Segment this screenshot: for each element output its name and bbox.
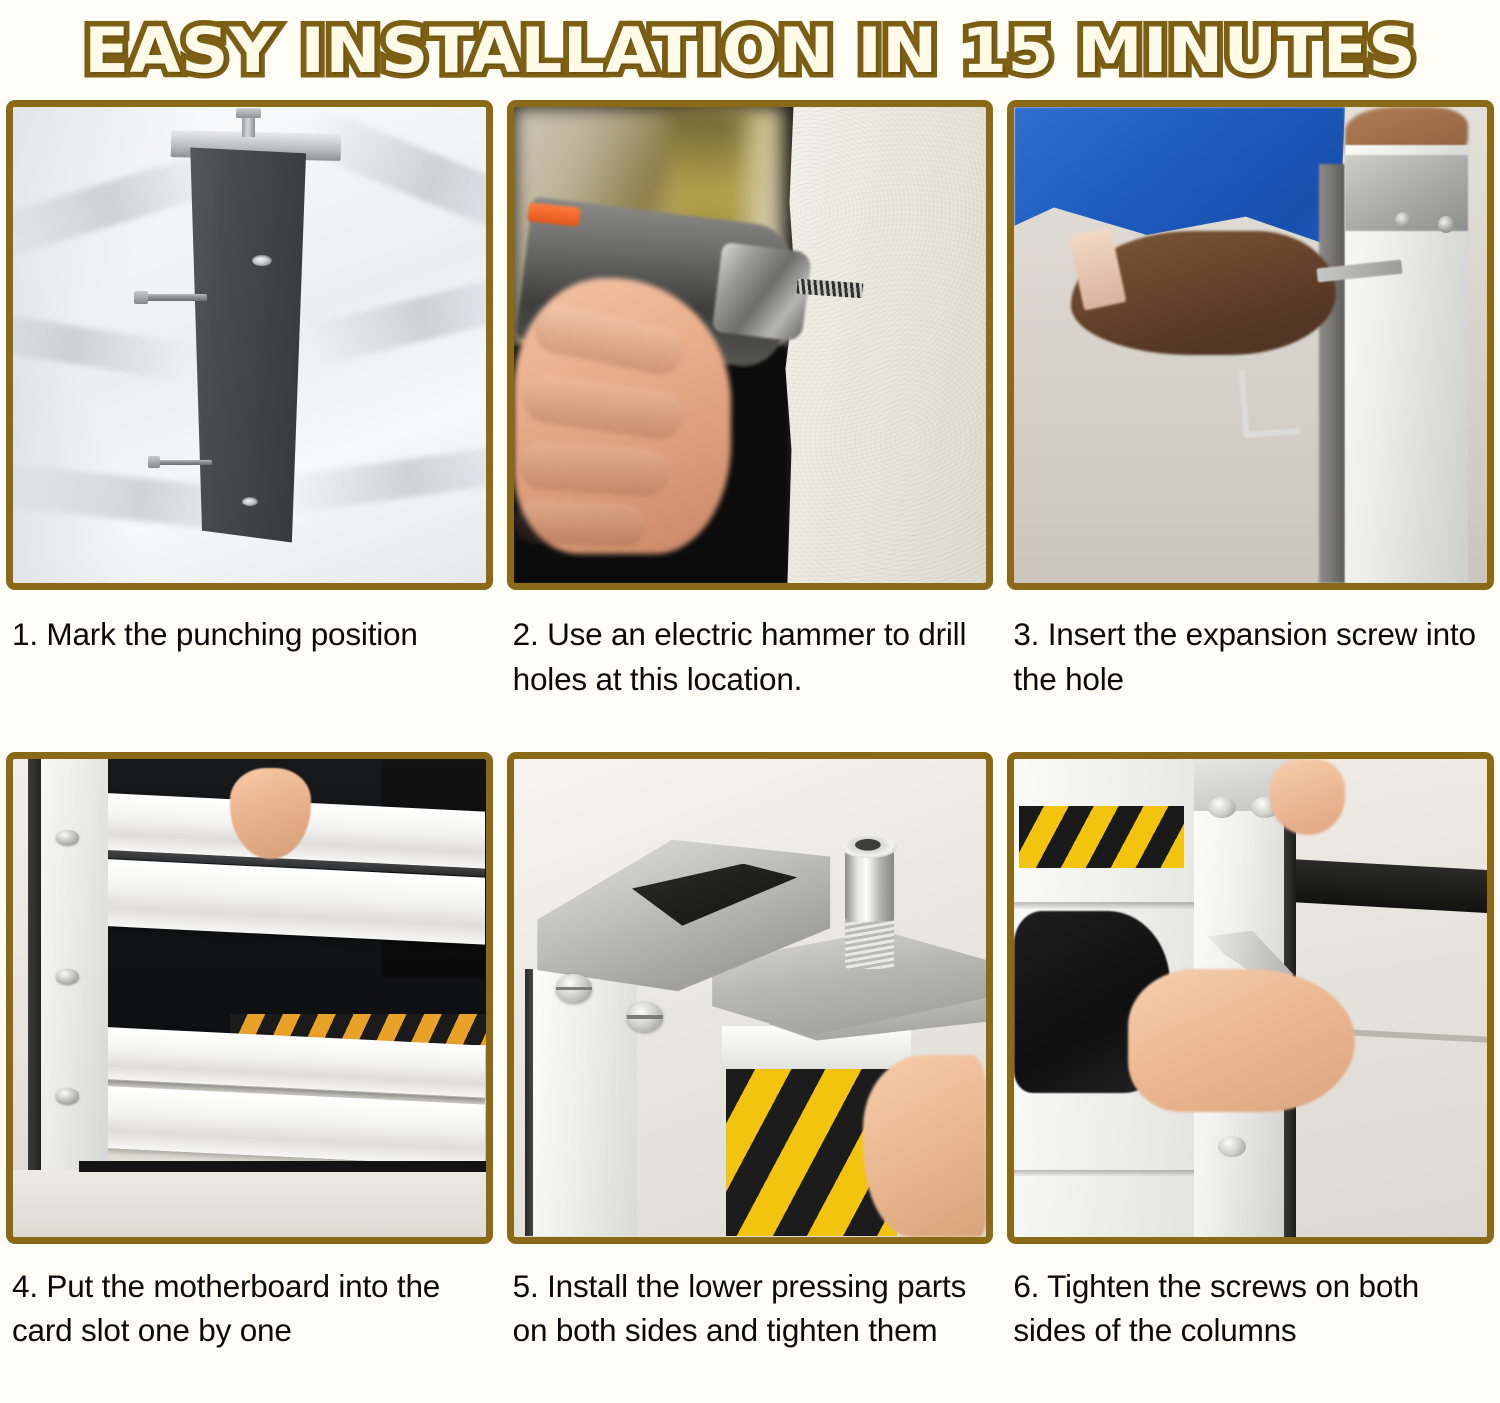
header-banner: EASY INSTALLATION IN 15 MINUTES: [0, 0, 1500, 100]
step-photo-1: [13, 107, 486, 583]
step-photo-frame-1: [6, 100, 493, 590]
step-photo-2: [514, 107, 987, 583]
step-photo-5: [514, 759, 987, 1237]
step-caption-6: 6. Tighten the screws on both sides of t…: [1007, 1244, 1494, 1353]
step-caption-1: 1. Mark the punching position: [6, 590, 493, 657]
step-photo-frame-4: [6, 752, 493, 1244]
step-card-1: 1. Mark the punching position: [6, 100, 493, 752]
step-card-3: 3. Insert the expansion screw into the h…: [1007, 100, 1494, 752]
step-photo-frame-6: [1007, 752, 1494, 1244]
step-caption-2: 2. Use an electric hammer to drill holes…: [507, 590, 994, 701]
step-card-4: 4. Put the motherboard into the card slo…: [6, 752, 493, 1403]
step-photo-3: [1014, 107, 1487, 583]
steps-grid: 1. Mark the punching position 2. Use: [0, 100, 1500, 1403]
step-photo-frame-3: [1007, 100, 1494, 590]
step-card-6: 6. Tighten the screws on both sides of t…: [1007, 752, 1494, 1403]
step-photo-frame-5: [507, 752, 994, 1244]
step-card-2: 2. Use an electric hammer to drill holes…: [507, 100, 994, 752]
page-title: EASY INSTALLATION IN 15 MINUTES: [84, 14, 1416, 87]
step-caption-5: 5. Install the lower pressing parts on b…: [507, 1244, 994, 1353]
step-card-5: 5. Install the lower pressing parts on b…: [507, 752, 994, 1403]
step-photo-frame-2: [507, 100, 994, 590]
step-caption-3: 3. Insert the expansion screw into the h…: [1007, 590, 1494, 701]
step-caption-4: 4. Put the motherboard into the card slo…: [6, 1244, 493, 1353]
step-photo-6: [1014, 759, 1487, 1237]
step-photo-4: [13, 759, 486, 1237]
